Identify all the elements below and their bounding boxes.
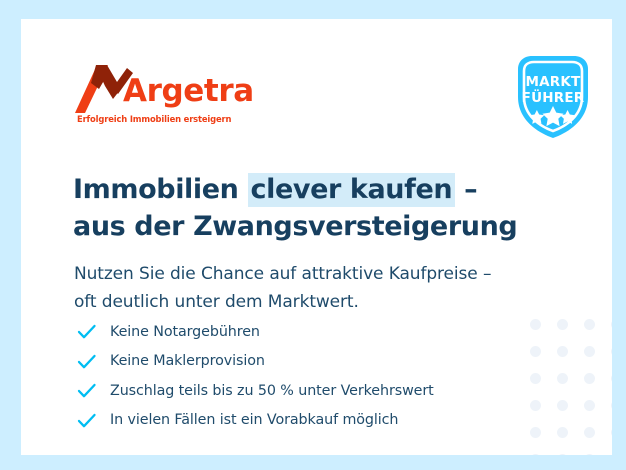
headline: Immobilien clever kaufen – aus der Zwang… [73, 171, 517, 245]
decorative-dot [584, 319, 595, 330]
headline-highlight: clever kaufen [248, 173, 456, 207]
promo-banner: Argetra Erfolgreich Immobilien ersteiger… [0, 0, 626, 470]
list-item: In vielen Fällen ist ein Vorabkauf mögli… [76, 406, 506, 436]
logo-tagline: Erfolgreich Immobilien ersteigern [77, 114, 231, 124]
decorative-dot [584, 400, 595, 411]
dot-grid-decoration [530, 319, 612, 455]
list-item-label: Keine Notargebühren [110, 324, 260, 340]
decorative-dot [584, 373, 595, 384]
list-item: Zuschlag teils bis zu 50 % unter Verkehr… [76, 376, 506, 406]
check-icon [76, 321, 97, 342]
decorative-dot [557, 400, 568, 411]
decorative-dot [530, 373, 541, 384]
check-icon [76, 351, 97, 372]
benefit-list: Keine NotargebührenKeine Maklerprovision… [76, 317, 506, 435]
markt-fuehrer-badge: MARKT FÜHRER [506, 53, 600, 141]
decorative-dot [557, 319, 568, 330]
list-item-label: In vielen Fällen ist ein Vorabkauf mögli… [110, 412, 398, 428]
check-icon [76, 380, 97, 401]
decorative-dot [557, 346, 568, 357]
list-item-label: Keine Maklerprovision [110, 353, 265, 369]
decorative-dot [557, 427, 568, 438]
headline-prefix: Immobilien [73, 174, 248, 205]
decorative-dot [611, 454, 612, 455]
shield-icon [506, 53, 600, 141]
decorative-dot [557, 373, 568, 384]
decorative-dot [611, 427, 612, 438]
decorative-dot [584, 454, 595, 455]
subtitle-line-1: Nutzen Sie die Chance auf attraktive Kau… [74, 264, 491, 284]
argetra-logo: Argetra Erfolgreich Immobilien ersteiger… [75, 63, 275, 125]
headline-line-2: aus der Zwangsversteigerung [73, 211, 517, 242]
list-item: Keine Notargebühren [76, 317, 506, 347]
logo-wordmark: Argetra [123, 71, 254, 111]
decorative-dot [530, 319, 541, 330]
decorative-dot [530, 427, 541, 438]
decorative-dot [530, 400, 541, 411]
headline-line-1: Immobilien clever kaufen – [73, 173, 477, 207]
decorative-dot [611, 319, 612, 330]
decorative-dot [584, 427, 595, 438]
decorative-dot [557, 454, 568, 455]
decorative-dot [611, 346, 612, 357]
check-icon [76, 410, 97, 431]
decorative-dot [530, 346, 541, 357]
decorative-dot [584, 346, 595, 357]
headline-suffix: – [455, 174, 477, 205]
subtitle-line-2: oft deutlich unter dem Marktwert. [74, 292, 359, 312]
decorative-dot [530, 454, 541, 455]
promo-card: Argetra Erfolgreich Immobilien ersteiger… [21, 19, 612, 455]
decorative-dot [611, 373, 612, 384]
list-item: Keine Maklerprovision [76, 347, 506, 377]
decorative-dot [611, 400, 612, 411]
list-item-label: Zuschlag teils bis zu 50 % unter Verkehr… [110, 383, 434, 399]
subtitle: Nutzen Sie die Chance auf attraktive Kau… [74, 260, 491, 316]
